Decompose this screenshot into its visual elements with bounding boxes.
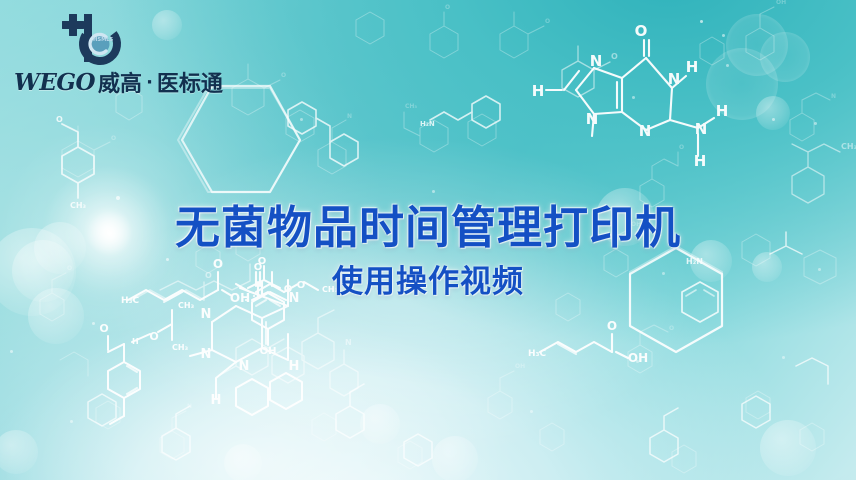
title-card-slide: O O N CH₃ O O OH N OH O N O OH O [0, 0, 856, 480]
brand-separator: · [145, 72, 154, 93]
title-block: 无菌物品时间管理打印机 使用操作视频 [0, 202, 856, 300]
page-title: 无菌物品时间管理打印机 [0, 202, 856, 254]
page-subtitle: 使用操作视频 [0, 264, 856, 300]
brand-product-line: 医标通 [157, 66, 223, 98]
brand-cjk-name: 威高 [98, 66, 142, 98]
brand-latin-name: WEGO [14, 69, 95, 96]
brand-wordmark: WEGO 威高 · 医标通 [14, 68, 194, 96]
wego-b-cross-mark-icon: HSMLS [60, 14, 126, 66]
logo-mark-inner-text: HSMLS [93, 37, 114, 43]
brand-logo: HSMLS WEGO 威高 · 医标通 [14, 12, 194, 96]
